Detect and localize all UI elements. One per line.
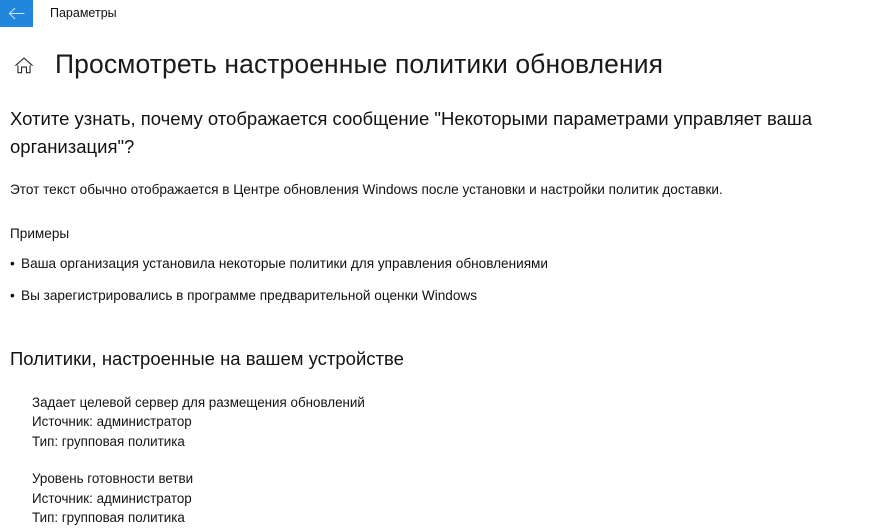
list-item-label: Вы зарегистрировались в программе предва… <box>21 288 477 303</box>
policy-source: Источник: администратор <box>32 412 882 432</box>
examples-label: Примеры <box>10 226 882 241</box>
app-title: Параметры <box>50 0 117 27</box>
policy-name: Уровень готовности ветви <box>32 469 882 489</box>
back-button[interactable] <box>0 0 33 27</box>
bullet-icon: • <box>10 287 21 305</box>
explanation-note: Этот текст обычно отображается в Центре … <box>10 181 882 199</box>
list-item: •Ваша организация установила некоторые п… <box>10 255 882 273</box>
policy-type: Тип: групповая политика <box>32 432 882 452</box>
page-header: Просмотреть настроенные политики обновле… <box>0 50 890 79</box>
back-arrow-icon <box>8 7 25 20</box>
policy-entry: Уровень готовности ветви Источник: админ… <box>32 469 882 528</box>
policies-list: Задает целевой сервер для размещения обн… <box>10 393 882 528</box>
list-item-label: Ваша организация установила некоторые по… <box>21 256 548 271</box>
page-title: Просмотреть настроенные политики обновле… <box>55 50 663 79</box>
policy-name: Задает целевой сервер для размещения обн… <box>32 393 882 413</box>
policies-section-heading: Политики, настроенные на вашем устройств… <box>10 347 882 370</box>
bullet-icon: • <box>10 255 21 273</box>
content-area: Хотите узнать, почему отображается сообщ… <box>0 105 890 528</box>
examples-list: •Ваша организация установила некоторые п… <box>10 255 882 304</box>
home-icon[interactable] <box>11 52 37 78</box>
policy-source: Источник: администратор <box>32 489 882 509</box>
policy-type: Тип: групповая политика <box>32 508 882 528</box>
lead-question: Хотите узнать, почему отображается сообщ… <box>10 105 882 160</box>
policy-entry: Задает целевой сервер для размещения обн… <box>32 393 882 452</box>
list-item: •Вы зарегистрировались в программе предв… <box>10 287 882 305</box>
title-bar: Параметры <box>0 0 890 27</box>
